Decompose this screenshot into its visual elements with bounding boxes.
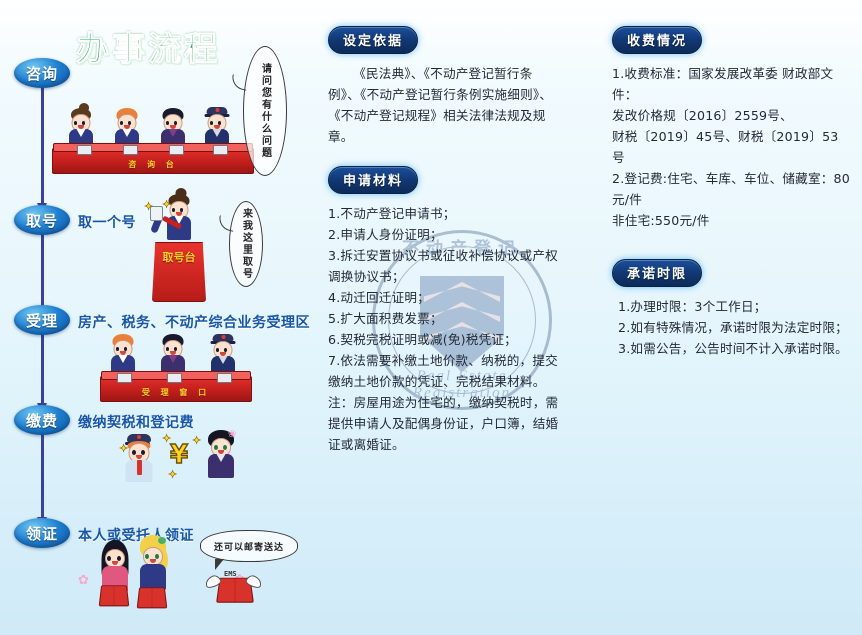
step-label-accept: 房产、税务、不动产综合业务受理区	[78, 312, 310, 332]
payment-illustration: ¥ ✦ ✦ ✦ ✦ ❀	[118, 428, 248, 490]
ticket-bubble-tail	[217, 215, 237, 232]
process-flow-column: 咨询	[0, 0, 310, 635]
fees-line-1: 1.收费标准：国家发展改革委 财政部文件：	[612, 63, 850, 105]
section-materials: 申请材料 1.不动产登记申请书； 2.申请人身份证明； 3.拆迁安置协议书或征收…	[328, 166, 560, 455]
materials-item-6: 6.契税完税证明或减(免)税凭证；	[328, 329, 560, 350]
step-badge-consult[interactable]: 咨询	[14, 58, 70, 88]
consult-speech-bubble: 请问您有什么问题	[243, 46, 287, 176]
flow-arrow-2	[41, 233, 44, 308]
ticket-bubble-text: 来我这里取号	[239, 208, 254, 280]
materials-item-5: 5.扩大面积费发票；	[328, 308, 560, 329]
materials-item-2: 2.申请人身份证明；	[328, 224, 560, 245]
section-body-basis: 《民法典》、《不动产登记暂行条例》、《不动产登记暂行条例实施细则》、《不动产登记…	[328, 63, 560, 147]
section-heading-fees: 收费情况	[612, 26, 702, 54]
section-body-fees: 1.收费标准：国家发展改革委 财政部文件： 发改价格规〔2016〕2559号、 …	[612, 63, 850, 231]
section-fees: 收费情况 1.收费标准：国家发展改革委 财政部文件： 发改价格规〔2016〕25…	[612, 26, 850, 231]
timeline-item-1: 1.办理时限：3个工作日；	[618, 296, 850, 317]
mail-speech-bubble: 还可以邮寄送达	[200, 530, 298, 562]
section-heading-timeline: 承诺时限	[612, 259, 702, 287]
consult-desk-illustration: 咨 询 台	[52, 104, 252, 184]
consult-desk: 咨 询 台	[52, 148, 254, 174]
ticket-podium-illustration: ✦ ✦ 取号台	[142, 196, 214, 306]
accept-desk-label: 受 理 窗 口	[101, 387, 251, 398]
flow-arrow-1	[41, 86, 44, 204]
mail-bubble-text: 还可以邮寄送达	[214, 540, 284, 553]
materials-item-7: 7.依法需要补缴土地价款、纳税的，提交缴纳土地价款的凭证、完税结果材料。	[328, 350, 560, 392]
basis-paragraph-1: 《民法典》、《不动产登记暂行条例》、《不动产登记暂行条例实施细则》、《不动产登记…	[328, 63, 560, 147]
section-timeline: 承诺时限 1.办理时限：3个工作日； 2.如有特殊情况，承诺时限为法定时限； 3…	[612, 259, 850, 359]
section-heading-basis: 设定依据	[328, 26, 418, 54]
fees-line-2: 发改价格规〔2016〕2559号、	[612, 105, 850, 126]
consult-desk-label: 咨 询 台	[53, 159, 253, 170]
consult-bubble-text: 请问您有什么问题	[258, 63, 273, 159]
ticket-podium-label: 取号台	[153, 251, 205, 264]
materials-item-1: 1.不动产登记申请书；	[328, 203, 560, 224]
accept-desk-illustration: 受 理 窗 口	[100, 334, 250, 406]
section-body-materials: 1.不动产登记申请书； 2.申请人身份证明； 3.拆迁安置协议书或征收补偿协议或…	[328, 203, 560, 455]
flow-arrow-3	[41, 334, 44, 404]
consult-bubble-tail	[230, 74, 250, 91]
section-basis: 设定依据 《民法典》、《不动产登记暂行条例》、《不动产登记暂行条例实施细则》、《…	[328, 26, 560, 147]
fees-line-3: 财税〔2019〕45号、财税〔2019〕53号	[612, 126, 850, 168]
certificate-illustration: ✿ ✿ ✿	[78, 528, 304, 633]
ems-label: EMS	[224, 570, 237, 578]
flow-arrow-4	[41, 434, 44, 518]
step-badge-ticket[interactable]: 取号	[14, 205, 70, 235]
ticket-podium: 取号台	[152, 242, 206, 302]
right-text-column: 收费情况 1.收费标准：国家发展改革委 财政部文件： 发改价格规〔2016〕25…	[612, 26, 850, 359]
timeline-item-3: 3.如需公告，公告时间不计入承诺时限。	[618, 338, 850, 359]
fees-line-5: 非住宅:550元/件	[612, 210, 850, 231]
materials-note: 注：房屋用途为住宅的，缴纳契税时，需提供申请人及配偶身份证，户口簿，结婚证或离婚…	[328, 392, 560, 455]
step-badge-certificate[interactable]: 领证	[14, 518, 70, 548]
section-heading-materials: 申请材料	[328, 166, 418, 194]
section-body-timeline: 1.办理时限：3个工作日； 2.如有特殊情况，承诺时限为法定时限； 3.如需公告…	[612, 296, 850, 359]
timeline-item-2: 2.如有特殊情况，承诺时限为法定时限；	[618, 317, 850, 338]
yen-symbol: ¥	[170, 440, 188, 470]
fees-line-4: 2.登记费:住宅、车库、车位、储藏室：80元/件	[612, 168, 850, 210]
materials-item-3: 3.拆迁安置协议书或征收补偿协议或产权调换协议书；	[328, 245, 560, 287]
materials-item-4: 4.动迁回迁证明；	[328, 287, 560, 308]
accept-desk: 受 理 窗 口	[100, 376, 252, 402]
step-badge-payment[interactable]: 缴费	[14, 405, 70, 435]
step-badge-accept[interactable]: 受理	[14, 305, 70, 335]
ticket-speech-bubble: 来我这里取号	[229, 201, 263, 287]
middle-text-column: 设定依据 《民法典》、《不动产登记暂行条例》、《不动产登记暂行条例实施细则》、《…	[328, 26, 560, 455]
step-label-ticket: 取一个号	[78, 212, 136, 232]
poster-canvas: 不动产登记 Real Estate Registration 办事流程 咨询	[0, 0, 862, 635]
